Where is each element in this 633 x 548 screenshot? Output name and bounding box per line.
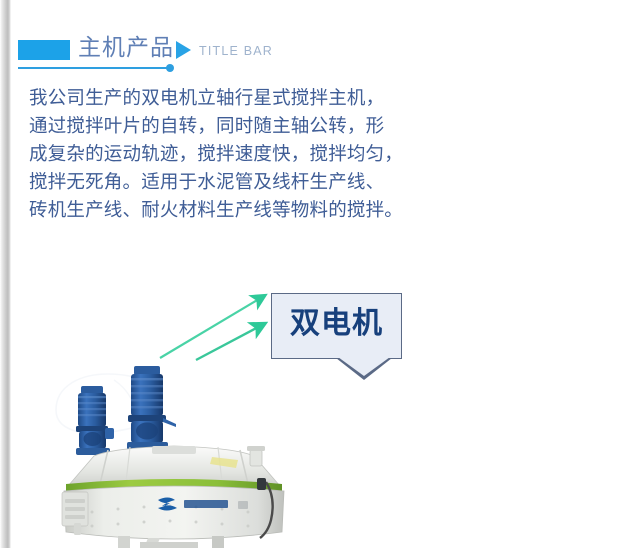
leg-right: [212, 536, 224, 548]
illustration-area: 双电机: [0, 262, 633, 548]
leg-left: [118, 536, 130, 548]
rule-end-dot-icon: [166, 64, 174, 72]
arrow-upper-icon: [160, 296, 264, 358]
page-title: 主机产品: [78, 33, 174, 63]
motor-right: [127, 366, 176, 450]
section-title-bar: 主机产品 TITLE BAR: [18, 36, 318, 80]
motor-left: [76, 386, 114, 455]
page-subtitle: TITLE BAR: [199, 44, 273, 58]
title-underline: [18, 67, 170, 69]
machine-image: [52, 360, 296, 548]
description-paragraph: 我公司生产的双电机立轴行星式搅拌主机， 通过搅拌叶片的自转，同时随主轴公转，形 …: [29, 85, 459, 225]
planetary-mixer-illustration: [52, 360, 296, 548]
callout-tail-fill: [338, 357, 390, 376]
title-color-swatch: [18, 40, 70, 60]
callout-box: 双电机: [271, 293, 402, 359]
triangle-right-icon: [176, 41, 191, 59]
callout-label: 双电机: [272, 303, 401, 345]
mixer-drum: [64, 486, 284, 539]
page-root: 主机产品 TITLE BAR 我公司生产的双电机立轴行星式搅拌主机， 通过搅拌叶…: [0, 0, 633, 548]
